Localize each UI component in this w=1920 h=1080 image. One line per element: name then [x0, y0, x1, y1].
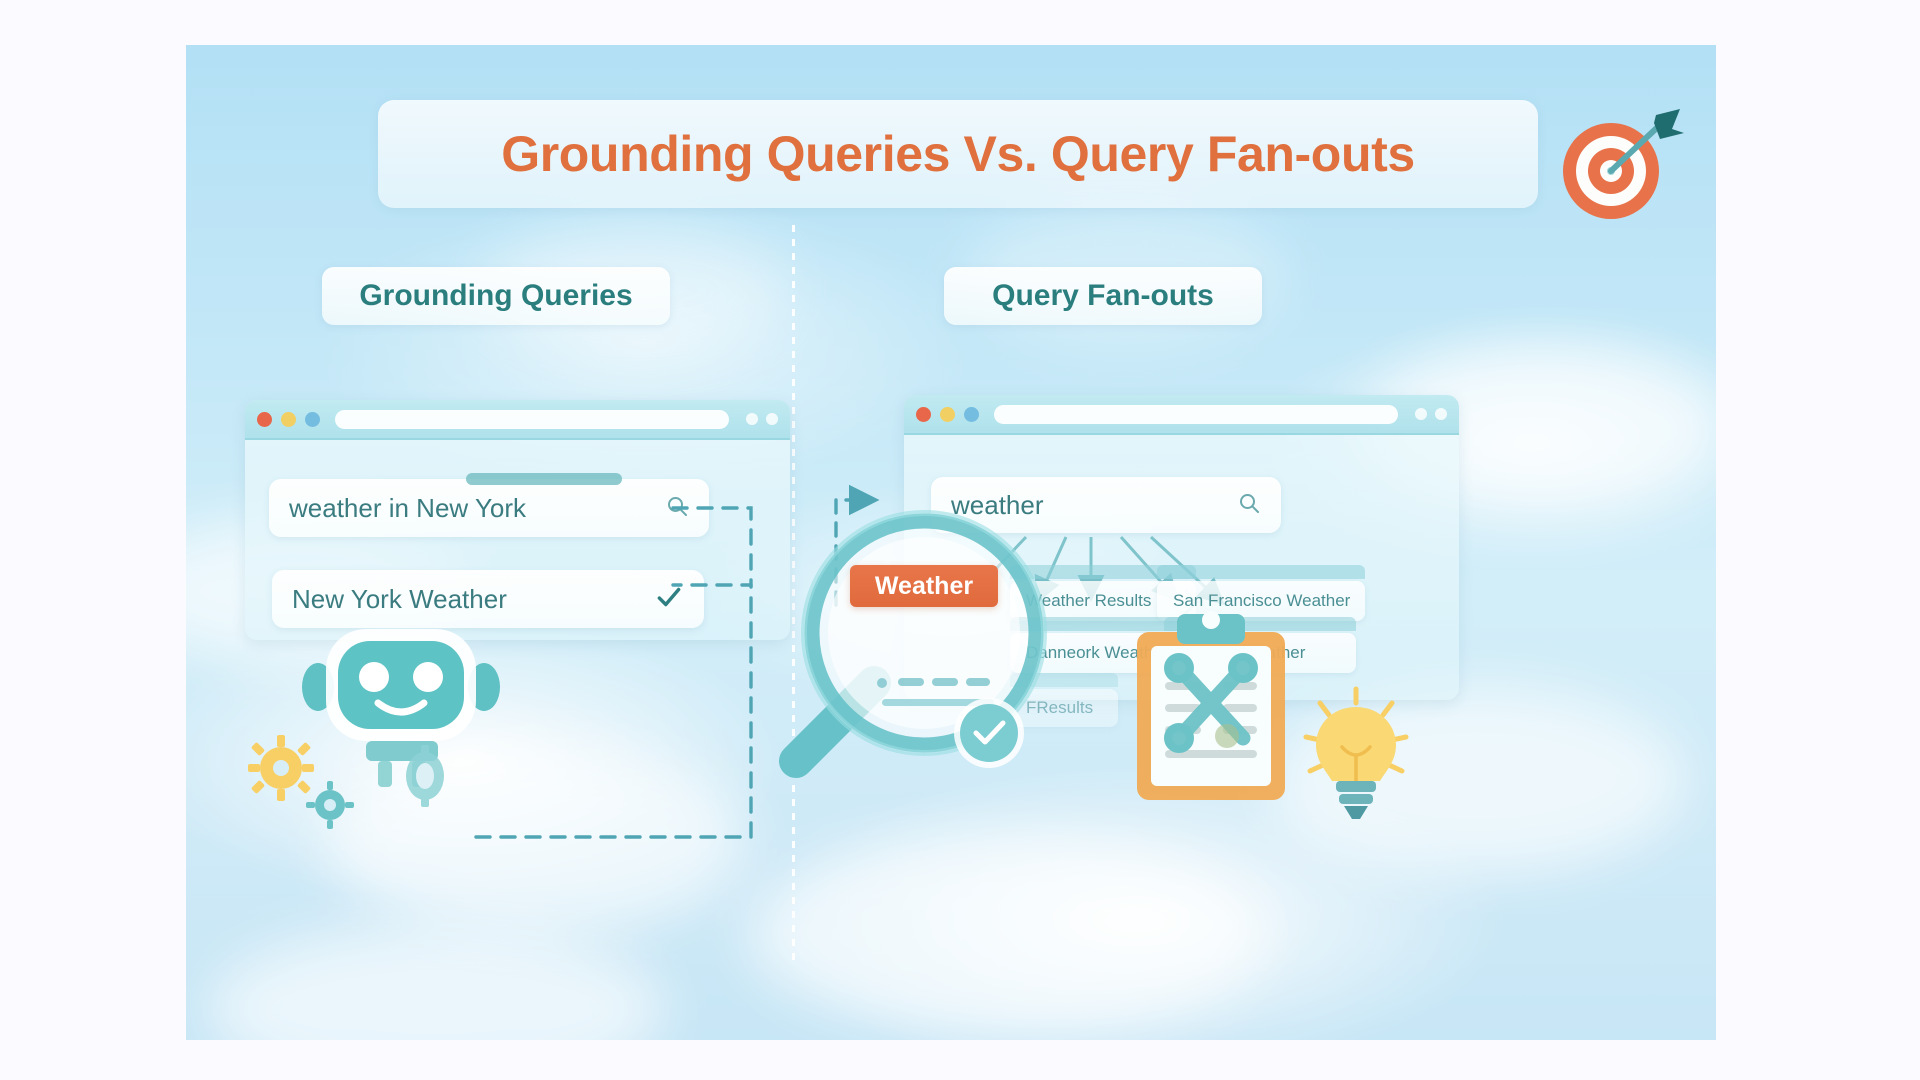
lightbulb-icon: [1296, 685, 1416, 825]
minimize-dot-icon[interactable]: [281, 412, 296, 427]
page-root: Grounding Queries Vs. Query Fan-outs Gro…: [0, 0, 1920, 1080]
cloud-puff: [746, 835, 1266, 1035]
window-control-dot[interactable]: [746, 413, 758, 425]
grounding-result-value: New York Weather: [292, 584, 654, 615]
gear-icon: [248, 735, 314, 801]
browser-titlebar: [904, 395, 1459, 435]
grounding-query-value: weather in New York: [289, 493, 665, 524]
window-control-dot[interactable]: [1415, 408, 1427, 420]
column-header-left-label: Grounding Queries: [359, 279, 632, 313]
window-control-dot[interactable]: [1435, 408, 1447, 420]
browser-url-bar[interactable]: [994, 405, 1398, 424]
check-icon: [654, 582, 684, 617]
search-icon[interactable]: [1237, 491, 1261, 520]
minimize-dot-icon[interactable]: [940, 407, 955, 422]
browser-url-bar[interactable]: [335, 410, 729, 429]
window-controls: [1415, 408, 1447, 420]
fanout-card-label: San Francisco Weather: [1173, 591, 1350, 611]
page-title: Grounding Queries Vs. Query Fan-outs: [501, 125, 1415, 183]
column-header-right-label: Query Fan-outs: [992, 279, 1214, 313]
column-header-fanouts: Query Fan-outs: [944, 267, 1262, 325]
gear-icon: [306, 781, 354, 829]
browser-titlebar: [245, 400, 790, 440]
magnifier-weather-badge: Weather: [850, 565, 998, 607]
maximize-dot-icon[interactable]: [305, 412, 320, 427]
close-dot-icon[interactable]: [257, 412, 272, 427]
column-header-grounding: Grounding Queries: [322, 267, 670, 325]
title-card: Grounding Queries Vs. Query Fan-outs: [378, 100, 1538, 208]
check-circle-icon: [951, 695, 1027, 771]
window-controls: [746, 413, 778, 425]
window-control-dot[interactable]: [766, 413, 778, 425]
card-chrome-bar: [1157, 565, 1365, 579]
close-dot-icon[interactable]: [916, 407, 931, 422]
cloud-puff: [206, 925, 666, 1040]
suggestion-placeholder-bar: [466, 473, 622, 485]
infographic-canvas: Grounding Queries Vs. Query Fan-outs Gro…: [186, 45, 1716, 1040]
target-dartboard-icon: [1556, 103, 1686, 223]
gear-icon: [398, 745, 452, 807]
maximize-dot-icon[interactable]: [964, 407, 979, 422]
magnifier-weather-badge-label: Weather: [875, 572, 973, 601]
clipboard-tools-icon: [1131, 610, 1291, 805]
grounding-query-input[interactable]: weather in New York: [269, 479, 709, 537]
search-icon[interactable]: [665, 494, 689, 523]
magnifying-glass-icon: [766, 475, 1076, 805]
